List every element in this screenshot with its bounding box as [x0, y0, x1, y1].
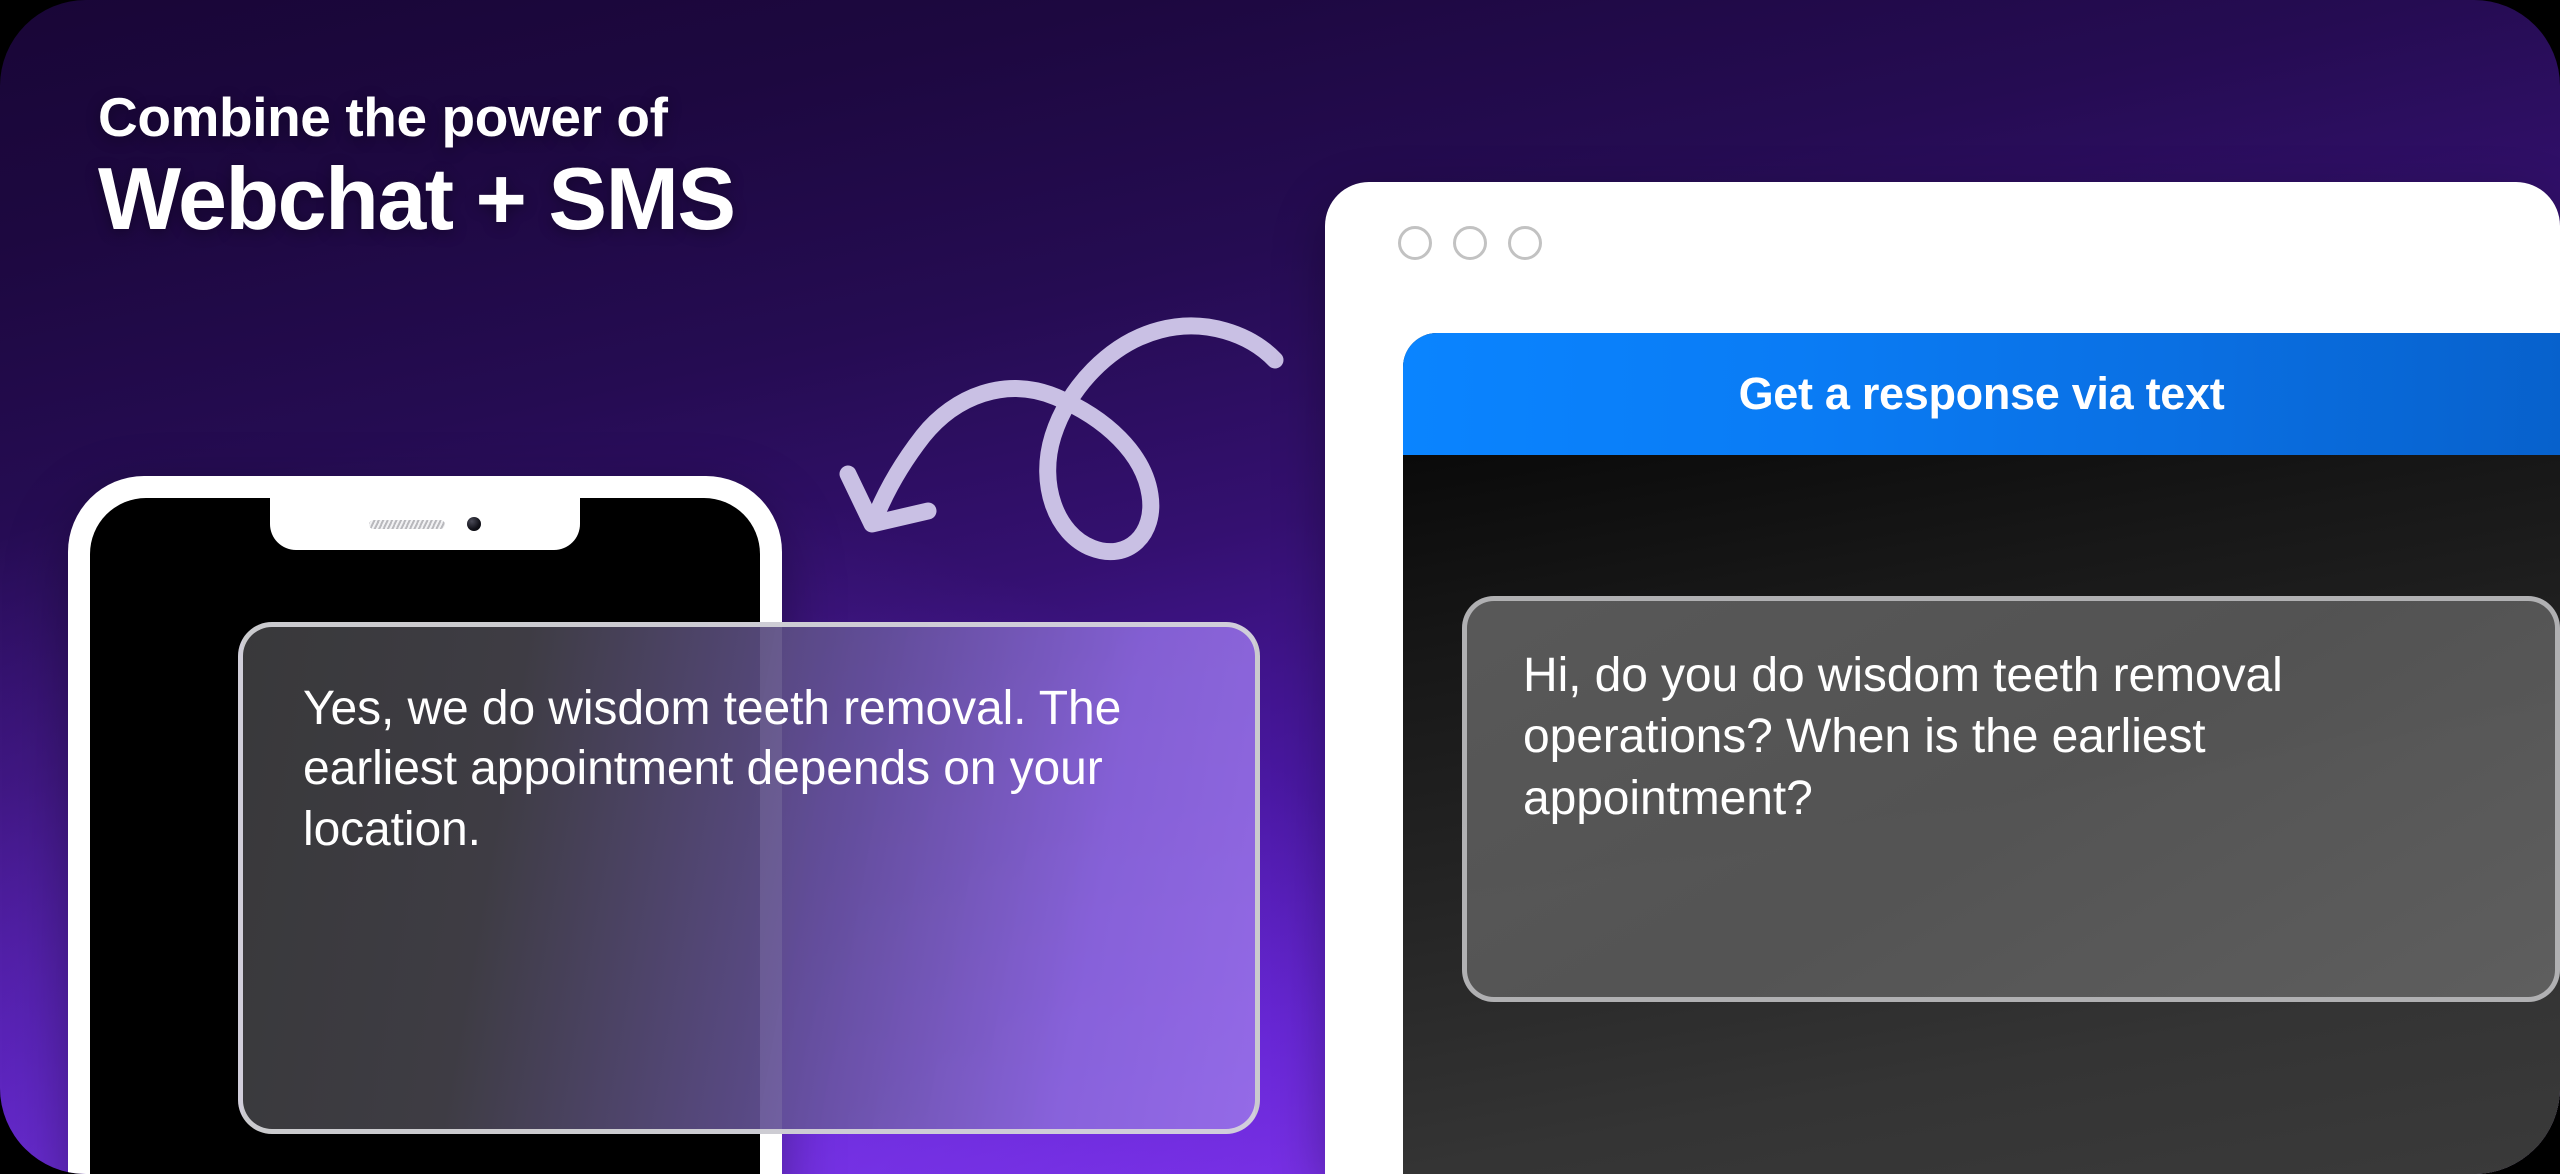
- webchat-chat-bubble: Hi, do you do wisdom teeth removal opera…: [1462, 596, 2560, 1002]
- headline-line-1: Combine the power of: [98, 88, 735, 146]
- window-dot-2-icon[interactable]: [1453, 226, 1487, 260]
- phone-chat-bubble-text: Yes, we do wisdom teeth removal. The ear…: [303, 679, 1195, 860]
- front-camera-icon: [467, 517, 481, 531]
- window-dot-1-icon[interactable]: [1398, 226, 1432, 260]
- response-banner: Get a response via text: [1403, 333, 2560, 455]
- window-controls: [1398, 226, 1542, 260]
- phone-notch: [270, 498, 580, 550]
- phone-chat-bubble: Yes, we do wisdom teeth removal. The ear…: [238, 622, 1260, 1134]
- headline-block: Combine the power of Webchat + SMS: [98, 88, 735, 249]
- webchat-chat-bubble-text: Hi, do you do wisdom teeth removal opera…: [1523, 645, 2499, 829]
- earpiece-speaker-icon: [369, 520, 445, 529]
- window-dot-3-icon[interactable]: [1508, 226, 1542, 260]
- promo-canvas: Combine the power of Webchat + SMS Get a…: [0, 0, 2560, 1174]
- headline-line-2: Webchat + SMS: [98, 150, 735, 249]
- response-banner-label: Get a response via text: [1739, 368, 2225, 420]
